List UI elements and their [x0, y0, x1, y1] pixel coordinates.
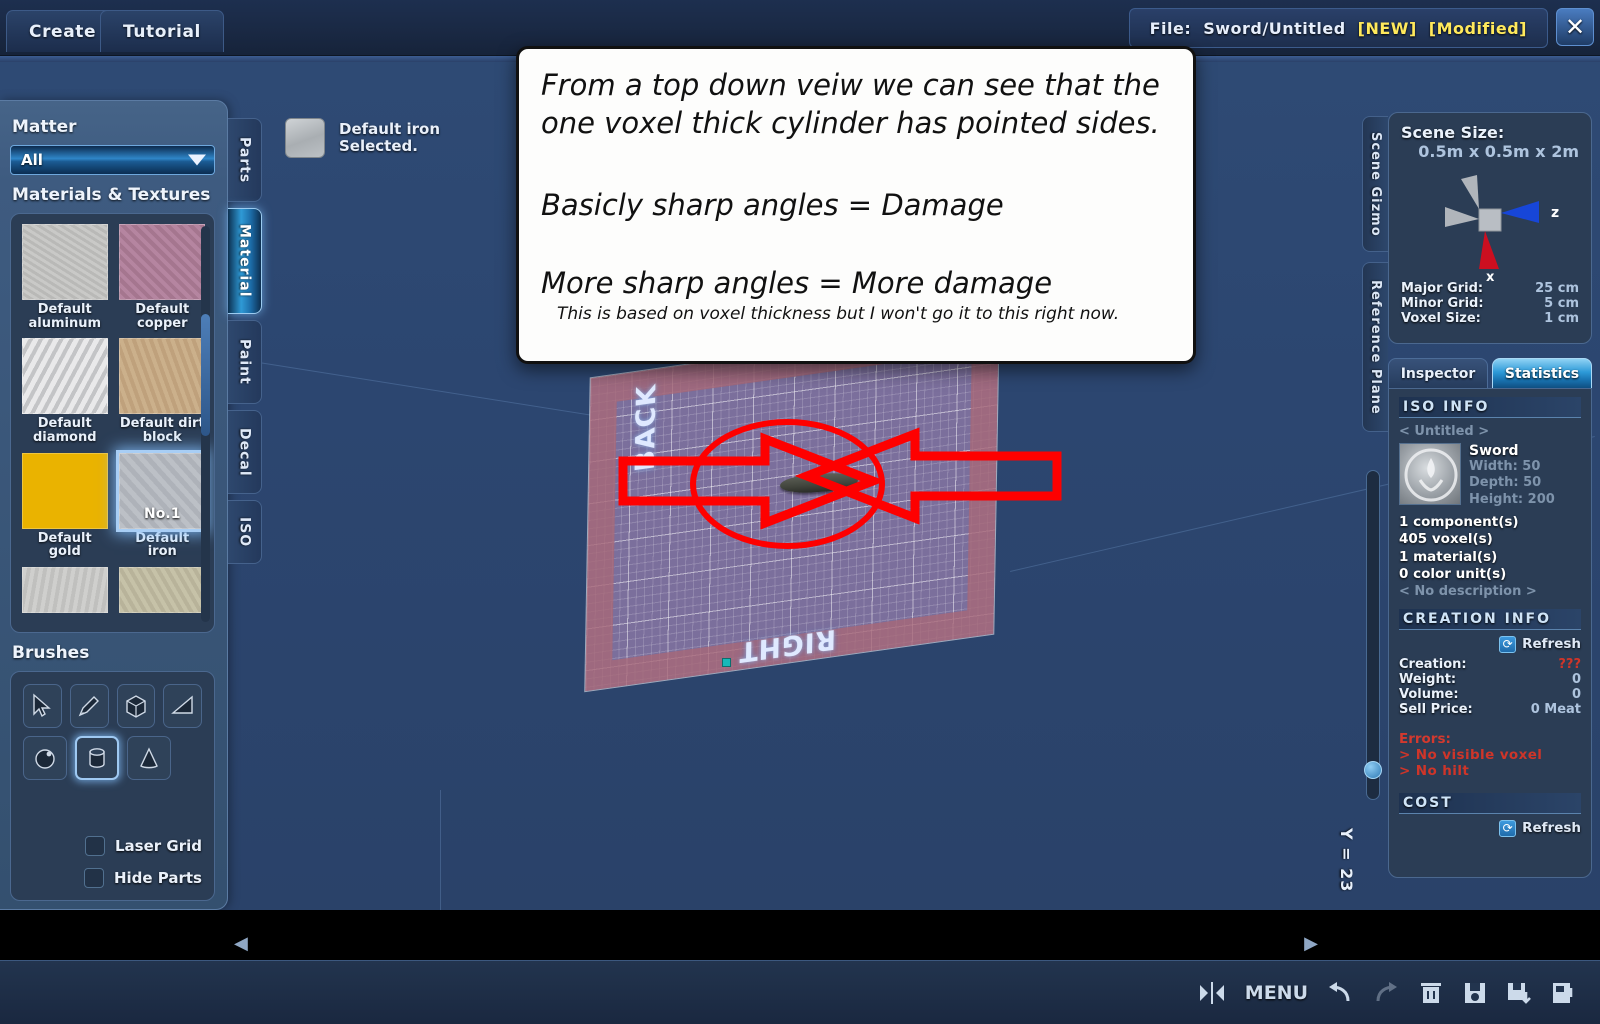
callout-line-2: Basicly sharp angles = Damage	[541, 188, 1171, 222]
redo-icon[interactable]	[1372, 980, 1400, 1006]
tab-statistics[interactable]: Statistics	[1492, 358, 1592, 388]
hide-parts-checkbox[interactable]	[84, 868, 104, 888]
minor-grid-row: Minor Grid: 5 cm	[1401, 296, 1579, 311]
axis-label-x: x	[1486, 270, 1495, 281]
creation-refresh-label: Refresh	[1522, 636, 1581, 652]
panel-scroll-right-icon[interactable]: ▶	[1304, 933, 1318, 954]
cylinder-brush-icon[interactable]	[75, 736, 119, 780]
layer-slider[interactable]	[1366, 470, 1380, 800]
material-copper[interactable]: Default copper	[119, 224, 207, 334]
volume-key: Volume:	[1399, 687, 1459, 702]
materials-heading: Materials & Textures	[12, 185, 215, 205]
bottom-toolbar: MENU	[0, 960, 1600, 1024]
brush-row-1	[23, 684, 202, 728]
material-swatch-iron: No.1	[119, 453, 205, 529]
creation-refresh-row[interactable]: ⟳ Refresh	[1399, 636, 1581, 653]
iso-thumbnail	[1399, 443, 1461, 505]
iso-depth: Depth: 50	[1469, 475, 1555, 491]
error-item: > No hilt	[1399, 763, 1581, 779]
material-dirt-block[interactable]: Default dirt block	[119, 338, 207, 448]
refresh-icon[interactable]: ⟳	[1499, 636, 1516, 653]
material-swatch-diamond	[22, 338, 108, 414]
cone-brush-icon[interactable]	[127, 736, 171, 780]
material-swatch-gold	[22, 453, 108, 529]
brushes-heading: Brushes	[12, 643, 215, 663]
material-swatch-dirt	[119, 338, 205, 414]
tab-decal[interactable]: Decal	[228, 410, 262, 494]
scene-gizmo-panel: Scene Size: 0.5m x 0.5m x 2m z x Major G…	[1388, 112, 1592, 344]
close-icon[interactable]: ✕	[1556, 8, 1594, 46]
material-label: Default diamond	[21, 414, 109, 448]
tab-reference-plane[interactable]: Reference Plane	[1362, 262, 1388, 432]
weight-value: 0	[1572, 672, 1581, 687]
status-badge-new: [NEW]	[1358, 19, 1417, 38]
material-label: Default gold	[21, 529, 109, 563]
iso-untitled: < Untitled >	[1399, 424, 1581, 439]
voxel-size-value: 1 cm	[1544, 311, 1579, 326]
hide-parts-label: Hide Parts	[114, 869, 202, 887]
tab-tutorial[interactable]: Tutorial	[100, 10, 224, 52]
inspector-statistics-tabs: Inspector Statistics	[1388, 358, 1592, 388]
trash-icon[interactable]	[1418, 980, 1444, 1006]
material-label: Default iron	[119, 529, 207, 563]
count-color-units: 0 color unit(s)	[1399, 566, 1581, 584]
tab-parts[interactable]: Parts	[228, 118, 262, 202]
refresh-icon[interactable]: ⟳	[1499, 820, 1516, 837]
annotation-arrow-right	[795, 426, 1065, 526]
material-iron[interactable]: No.1 Default iron	[119, 453, 207, 563]
material-aluminum[interactable]: Default aluminum	[21, 224, 109, 334]
axis-label-z: z	[1551, 205, 1559, 221]
menu-button[interactable]: MENU	[1245, 982, 1308, 1004]
weight-key: Weight:	[1399, 672, 1456, 687]
creation-value: ???	[1558, 657, 1581, 672]
plane-label-right: RIGHT	[738, 623, 836, 668]
iso-no-description: < No description >	[1399, 584, 1581, 599]
material-stone[interactable]	[21, 567, 109, 613]
cost-heading: COST	[1399, 793, 1581, 814]
export-icon[interactable]	[1550, 980, 1576, 1006]
sphere-brush-icon[interactable]	[23, 736, 67, 780]
tab-paint[interactable]: Paint	[228, 320, 262, 404]
material-swatch-copper	[119, 224, 205, 300]
matter-filter-dropdown[interactable]: All	[10, 145, 215, 175]
hide-parts-row[interactable]: Hide Parts	[84, 868, 202, 888]
material-sand[interactable]	[119, 567, 207, 613]
left-tool-panel: Matter All Materials & Textures Default …	[0, 100, 228, 910]
major-grid-key: Major Grid:	[1401, 281, 1483, 296]
save-as-icon[interactable]	[1506, 980, 1532, 1006]
file-status-bar: File: Sword/Untitled [NEW] [Modified]	[1129, 8, 1548, 48]
weight-row: Weight: 0	[1399, 672, 1581, 687]
brushes-container: Laser Grid Hide Parts	[10, 671, 215, 901]
material-label: Default copper	[119, 300, 207, 334]
minor-grid-key: Minor Grid:	[1401, 296, 1484, 311]
error-item: > No visible voxel	[1399, 747, 1581, 763]
iso-info-heading: ISO INFO	[1399, 397, 1581, 418]
volume-row: Volume: 0	[1399, 687, 1581, 702]
brush-row-2	[23, 736, 202, 780]
major-grid-row: Major Grid: 25 cm	[1401, 281, 1579, 296]
materials-grid: Default aluminum Default copper Default …	[21, 224, 206, 613]
save-icon[interactable]	[1462, 980, 1488, 1006]
scene-size-label: Scene Size:	[1401, 123, 1579, 142]
selection-text: Default iron Selected.	[339, 121, 440, 156]
annotation-callout: From a top down veiw we can see that the…	[516, 46, 1196, 364]
tab-iso[interactable]: ISO	[228, 500, 262, 564]
count-materials: 1 material(s)	[1399, 549, 1581, 567]
mirror-icon[interactable]	[1197, 980, 1227, 1006]
sell-price-row: Sell Price: 0 Meat	[1399, 702, 1581, 717]
material-swatch-stone	[22, 567, 108, 613]
material-overlay-text: No.1	[120, 506, 204, 522]
callout-line-4: This is based on voxel thickness but I w…	[541, 304, 1171, 324]
file-name: Sword/Untitled	[1203, 19, 1345, 38]
creation-info-heading: CREATION INFO	[1399, 609, 1581, 630]
materials-grid-container: Default aluminum Default copper Default …	[10, 213, 215, 633]
sell-price-value: 0 Meat	[1531, 702, 1581, 717]
major-grid-value: 25 cm	[1535, 281, 1579, 296]
panel-scroll-left-icon[interactable]: ◀	[234, 933, 248, 954]
cursor-brush-icon[interactable]	[23, 684, 62, 728]
sell-price-key: Sell Price:	[1399, 702, 1473, 717]
laser-grid-row[interactable]: Laser Grid	[85, 836, 202, 856]
selected-material-swatch	[285, 118, 325, 158]
iso-name: Sword	[1469, 443, 1555, 459]
editor-tab-strip: Parts Material Paint Decal ISO	[228, 118, 262, 570]
material-gold[interactable]: Default gold	[21, 453, 109, 563]
right-tab-strip: Scene Gizmo Reference Plane	[1362, 116, 1388, 442]
axis-gizmo[interactable]: z x	[1401, 161, 1579, 281]
laser-grid-checkbox[interactable]	[85, 836, 105, 856]
matter-heading: Matter	[12, 117, 215, 137]
app-root: FRONT BACK RIGHT Create Tutorial File: S…	[0, 0, 1600, 1024]
wedge-brush-icon[interactable]	[163, 684, 202, 728]
count-components: 1 component(s)	[1399, 514, 1581, 532]
material-diamond[interactable]: Default diamond	[21, 338, 109, 448]
chevron-down-icon	[188, 155, 206, 166]
material-label: Default dirt block	[119, 414, 207, 448]
cube-brush-icon[interactable]	[117, 684, 156, 728]
material-label: Default aluminum	[21, 300, 109, 334]
iso-height: Height: 200	[1469, 492, 1555, 508]
errors-heading: Errors:	[1399, 731, 1581, 747]
selection-line-2: Selected.	[339, 138, 440, 155]
tab-inspector[interactable]: Inspector	[1388, 358, 1488, 388]
iso-preview-row: Sword Width: 50 Depth: 50 Height: 200	[1399, 443, 1581, 508]
selection-info: Default iron Selected.	[285, 118, 440, 158]
count-voxels: 405 voxel(s)	[1399, 531, 1581, 549]
voxel-size-key: Voxel Size:	[1401, 311, 1481, 326]
tab-material[interactable]: Material	[228, 208, 262, 314]
creation-row: Creation: ???	[1399, 657, 1581, 672]
tab-scene-gizmo[interactable]: Scene Gizmo	[1362, 116, 1388, 252]
pencil-brush-icon[interactable]	[70, 684, 109, 728]
statistics-panel: ISO INFO < Untitled > Sword Width: 50 De…	[1388, 388, 1592, 878]
undo-icon[interactable]	[1326, 980, 1354, 1006]
material-swatch-sand	[119, 567, 205, 613]
cost-refresh-label: Refresh	[1522, 820, 1581, 836]
file-label: File:	[1150, 19, 1192, 38]
materials-scrollbar[interactable]	[201, 226, 210, 622]
matter-filter-value: All	[21, 151, 43, 169]
creation-key: Creation:	[1399, 657, 1467, 672]
laser-grid-label: Laser Grid	[115, 837, 202, 855]
selection-line-1: Default iron	[339, 121, 440, 138]
callout-line-3: More sharp angles = More damage	[541, 266, 1171, 300]
material-swatch-aluminum	[22, 224, 108, 300]
minor-grid-value: 5 cm	[1544, 296, 1579, 311]
scene-size-value: 0.5m x 0.5m x 2m	[1401, 142, 1579, 161]
status-badge-modified: [Modified]	[1429, 19, 1527, 38]
voxel-size-row: Voxel Size: 1 cm	[1401, 311, 1579, 326]
iso-width: Width: 50	[1469, 459, 1555, 475]
cursor-voxel-marker	[722, 658, 731, 667]
callout-line-1: From a top down veiw we can see that the…	[541, 67, 1171, 142]
y-layer-readout: Y = 23	[1337, 828, 1356, 892]
cost-refresh-row[interactable]: ⟳ Refresh	[1399, 820, 1581, 837]
volume-value: 0	[1572, 687, 1581, 702]
layer-slider-handle[interactable]	[1364, 761, 1382, 779]
